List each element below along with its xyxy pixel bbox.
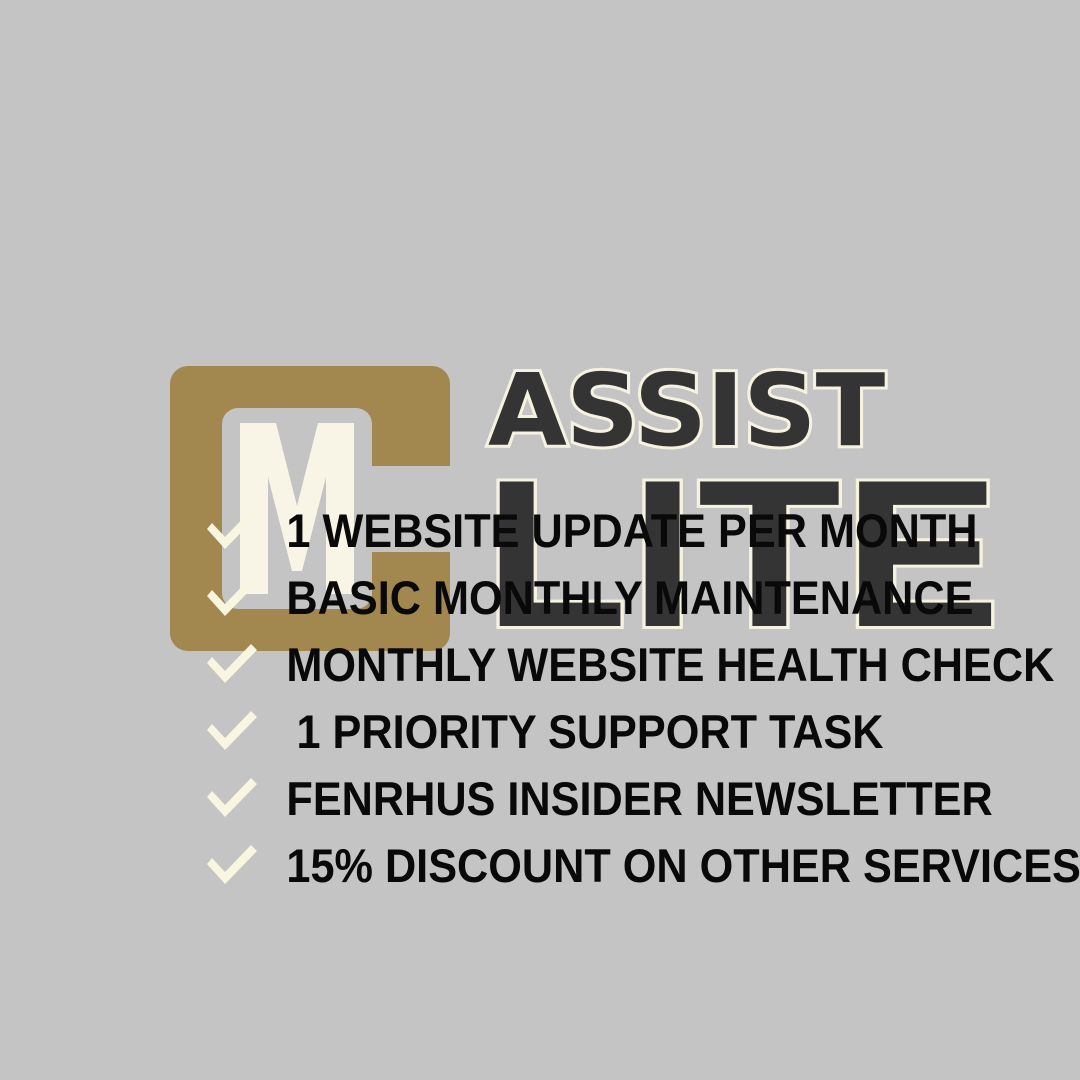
list-item: MONTHLY WEBSITE HEALTH CHECK xyxy=(0,634,1080,701)
list-item-label: BASIC MONTHLY MAINTENANCE xyxy=(286,567,893,629)
brand-header: ASSIST LITE xyxy=(0,176,1080,486)
list-item: BASIC MONTHLY MAINTENANCE xyxy=(0,567,1080,634)
list-item-label: FENRHUS INSIDER NEWSLETTER xyxy=(286,768,893,830)
check-icon xyxy=(203,776,259,822)
check-icon xyxy=(203,709,259,755)
check-icon xyxy=(203,508,259,554)
list-item-label: 15% DISCOUNT ON OTHER SERVICES xyxy=(286,835,893,897)
list-item: 1 PRIORITY SUPPORT TASK xyxy=(0,701,1080,768)
list-item-label: 1 PRIORITY SUPPORT TASK xyxy=(286,701,893,763)
check-icon xyxy=(203,575,259,621)
check-icon xyxy=(203,843,259,889)
feature-list: 1 WEBSITE UPDATE PER MONTH BASIC MONTHLY… xyxy=(0,500,1080,902)
list-item: FENRHUS INSIDER NEWSLETTER xyxy=(0,768,1080,835)
list-item-label: MONTHLY WEBSITE HEALTH CHECK xyxy=(286,634,893,696)
check-icon xyxy=(203,642,259,688)
list-item-label: 1 WEBSITE UPDATE PER MONTH xyxy=(286,500,893,562)
list-item: 15% DISCOUNT ON OTHER SERVICES xyxy=(0,835,1080,902)
list-item: 1 WEBSITE UPDATE PER MONTH xyxy=(0,500,1080,567)
